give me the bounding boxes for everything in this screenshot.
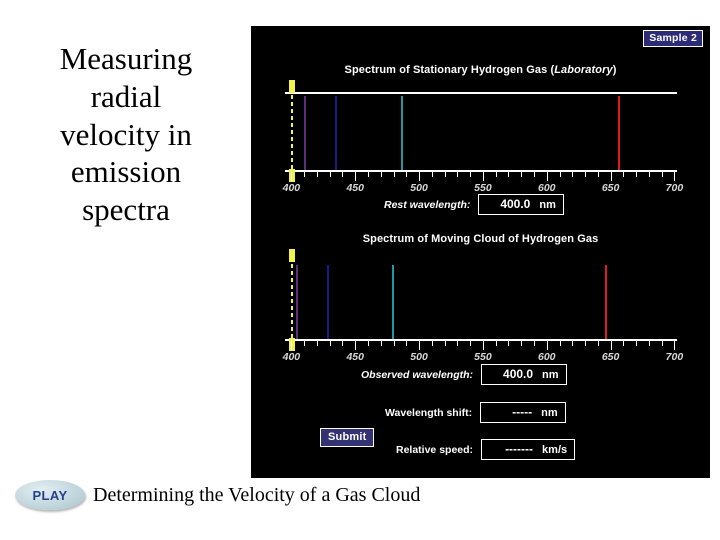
axis-tick-minor — [470, 172, 471, 177]
axis-tick-minor — [432, 341, 433, 346]
wavelength-cursor-handle-top[interactable] — [289, 80, 295, 93]
axis-tick-major — [291, 341, 292, 350]
axis-tick-label: 400 — [283, 351, 301, 363]
observed-wavelength-box: 400.0 nm — [481, 364, 567, 385]
axis-tick-minor — [394, 341, 395, 346]
axis-tick-minor — [368, 341, 369, 346]
axis-tick-minor — [304, 341, 305, 346]
relative-speed-label: Relative speed: — [396, 444, 473, 456]
wavelength-shift-box: ----- nm — [480, 402, 566, 423]
axis-tick-minor — [534, 341, 535, 346]
axis-tick-label: 600 — [538, 351, 556, 363]
axis-tick-minor — [560, 172, 561, 177]
axis-tick-label: 700 — [666, 351, 684, 363]
spectrum-1-title: Spectrum of Stationary Hydrogen Gas (Lab… — [251, 64, 710, 76]
page-title-line: emission — [8, 153, 244, 191]
axis-tick-minor — [342, 341, 343, 346]
axis-tick-major — [483, 172, 484, 181]
axis-tick-label: 500 — [410, 351, 428, 363]
observed-wavelength-readout: Observed wavelength: 400.0 nm — [361, 364, 567, 385]
rest-wavelength-box: 400.0 nm — [478, 194, 564, 215]
rest-wavelength-value: 400.0 — [486, 197, 530, 211]
axis-tick-minor — [457, 172, 458, 177]
page-title: Measuring radial velocity in emission sp… — [8, 40, 244, 229]
axis-tick-minor — [521, 341, 522, 346]
axis-tick-minor — [445, 172, 446, 177]
axis-tick-minor — [368, 172, 369, 177]
relative-speed-unit: km/s — [542, 444, 567, 456]
wavelength-shift-readout: Wavelength shift: ----- nm — [385, 402, 566, 423]
axis-tick-minor — [508, 172, 509, 177]
wavelength-cursor-handle-top[interactable] — [289, 249, 295, 262]
axis-tick-major — [419, 341, 420, 350]
axis-tick-major — [674, 341, 675, 350]
axis-tick-label: 550 — [474, 182, 492, 194]
page-title-line: Measuring — [8, 40, 244, 78]
axis-tick-minor — [445, 341, 446, 346]
play-button[interactable]: PLAY — [15, 480, 85, 510]
axis-tick-minor — [585, 172, 586, 177]
observed-wavelength-value: 400.0 — [489, 367, 533, 381]
emission-line — [401, 96, 403, 170]
spectrum-axis-line — [285, 339, 677, 341]
axis-tick-minor — [304, 172, 305, 177]
wavelength-cursor-handle-bottom[interactable] — [289, 169, 295, 182]
axis-tick-minor — [381, 341, 382, 346]
axis-tick-minor — [330, 341, 331, 346]
axis-tick-label: 450 — [346, 351, 364, 363]
axis-tick-minor — [585, 341, 586, 346]
axis-tick-minor — [534, 172, 535, 177]
emission-line — [335, 96, 337, 170]
observed-wavelength-unit: nm — [542, 369, 559, 381]
axis-tick-major — [483, 341, 484, 350]
spectrum-1-title-prefix: Spectrum of Stationary Hydrogen Gas ( — [345, 64, 555, 76]
axis-tick-label: 650 — [602, 351, 620, 363]
axis-tick-minor — [432, 172, 433, 177]
emission-line — [327, 265, 329, 339]
axis-tick-minor — [394, 172, 395, 177]
rest-wavelength-label: Rest wavelength: — [384, 199, 470, 211]
axis-tick-minor — [598, 341, 599, 346]
axis-tick-major — [355, 172, 356, 181]
play-button-label: PLAY — [32, 488, 67, 503]
axis-tick-minor — [381, 172, 382, 177]
axis-tick-major — [611, 172, 612, 181]
rest-wavelength-readout: Rest wavelength: 400.0 nm — [384, 194, 564, 215]
wavelength-shift-value: ----- — [488, 405, 532, 419]
spectrum-plot-area — [285, 251, 677, 351]
spectrum-chart-stationary[interactable]: 400450500550600650700 — [285, 82, 677, 182]
axis-tick-label: 700 — [666, 182, 684, 194]
emission-line — [392, 265, 394, 339]
wavelength-cursor-line — [291, 88, 293, 172]
wavelength-shift-unit: nm — [541, 407, 558, 419]
wavelength-shift-label: Wavelength shift: — [385, 407, 472, 419]
axis-tick-minor — [560, 341, 561, 346]
wavelength-cursor-handle-bottom[interactable] — [289, 338, 295, 351]
axis-tick-major — [355, 341, 356, 350]
axis-tick-major — [611, 341, 612, 350]
axis-tick-minor — [406, 172, 407, 177]
observed-wavelength-label: Observed wavelength: — [361, 369, 473, 381]
axis-tick-minor — [470, 341, 471, 346]
axis-tick-label: 400 — [283, 182, 301, 194]
axis-tick-minor — [521, 172, 522, 177]
axis-tick-minor — [508, 341, 509, 346]
emission-line — [618, 96, 620, 170]
axis-tick-minor — [623, 172, 624, 177]
simulation-panel: Sample 2 Spectrum of Stationary Hydrogen… — [251, 26, 710, 478]
axis-tick-major — [419, 172, 420, 181]
relative-speed-box: ------- km/s — [481, 439, 575, 460]
axis-tick-minor — [662, 172, 663, 177]
spectrum-1-title-suffix: ) — [613, 64, 617, 76]
axis-tick-label: 550 — [474, 351, 492, 363]
axis-tick-minor — [496, 172, 497, 177]
axis-tick-label: 600 — [538, 182, 556, 194]
axis-tick-minor — [330, 172, 331, 177]
axis-tick-minor — [406, 341, 407, 346]
spectrum-1-title-emphasis: Laboratory — [554, 64, 612, 76]
relative-speed-readout: Relative speed: ------- km/s — [396, 439, 575, 460]
axis-tick-minor — [623, 341, 624, 346]
spectrum-chart-moving[interactable]: 400450500550600650700 — [285, 251, 677, 351]
axis-tick-major — [674, 172, 675, 181]
wavelength-cursor-line — [291, 257, 293, 341]
spectrum-2-title-prefix: Spectrum of Moving Cloud of Hydrogen Gas — [363, 233, 599, 245]
axis-tick-minor — [572, 172, 573, 177]
spectrum-axis-line — [285, 170, 677, 172]
slide-caption: Determining the Velocity of a Gas Cloud — [93, 484, 420, 507]
sample-badge: Sample 2 — [643, 30, 703, 47]
axis-tick-minor — [598, 172, 599, 177]
page-title-line: radial — [8, 78, 244, 116]
spectrum-top-rule — [285, 92, 677, 94]
axis-tick-label: 650 — [602, 182, 620, 194]
axis-tick-minor — [342, 172, 343, 177]
axis-tick-minor — [317, 341, 318, 346]
rest-wavelength-unit: nm — [539, 199, 556, 211]
axis-tick-major — [291, 172, 292, 181]
emission-line — [304, 96, 306, 170]
axis-tick-minor — [649, 172, 650, 177]
page-title-line: spectra — [8, 191, 244, 229]
axis-tick-major — [547, 341, 548, 350]
axis-tick-minor — [649, 341, 650, 346]
axis-tick-minor — [457, 341, 458, 346]
emission-line — [296, 265, 298, 339]
page-title-line: velocity in — [8, 116, 244, 154]
axis-tick-minor — [572, 341, 573, 346]
axis-tick-minor — [636, 172, 637, 177]
relative-speed-value: ------- — [489, 442, 533, 456]
axis-tick-label: 450 — [346, 182, 364, 194]
axis-tick-major — [547, 172, 548, 181]
spectrum-2-title: Spectrum of Moving Cloud of Hydrogen Gas — [251, 233, 710, 245]
axis-tick-minor — [662, 341, 663, 346]
axis-tick-minor — [636, 341, 637, 346]
axis-tick-minor — [496, 341, 497, 346]
emission-line — [605, 265, 607, 339]
axis-tick-minor — [317, 172, 318, 177]
submit-button[interactable]: Submit — [320, 428, 374, 447]
axis-tick-label: 500 — [410, 182, 428, 194]
